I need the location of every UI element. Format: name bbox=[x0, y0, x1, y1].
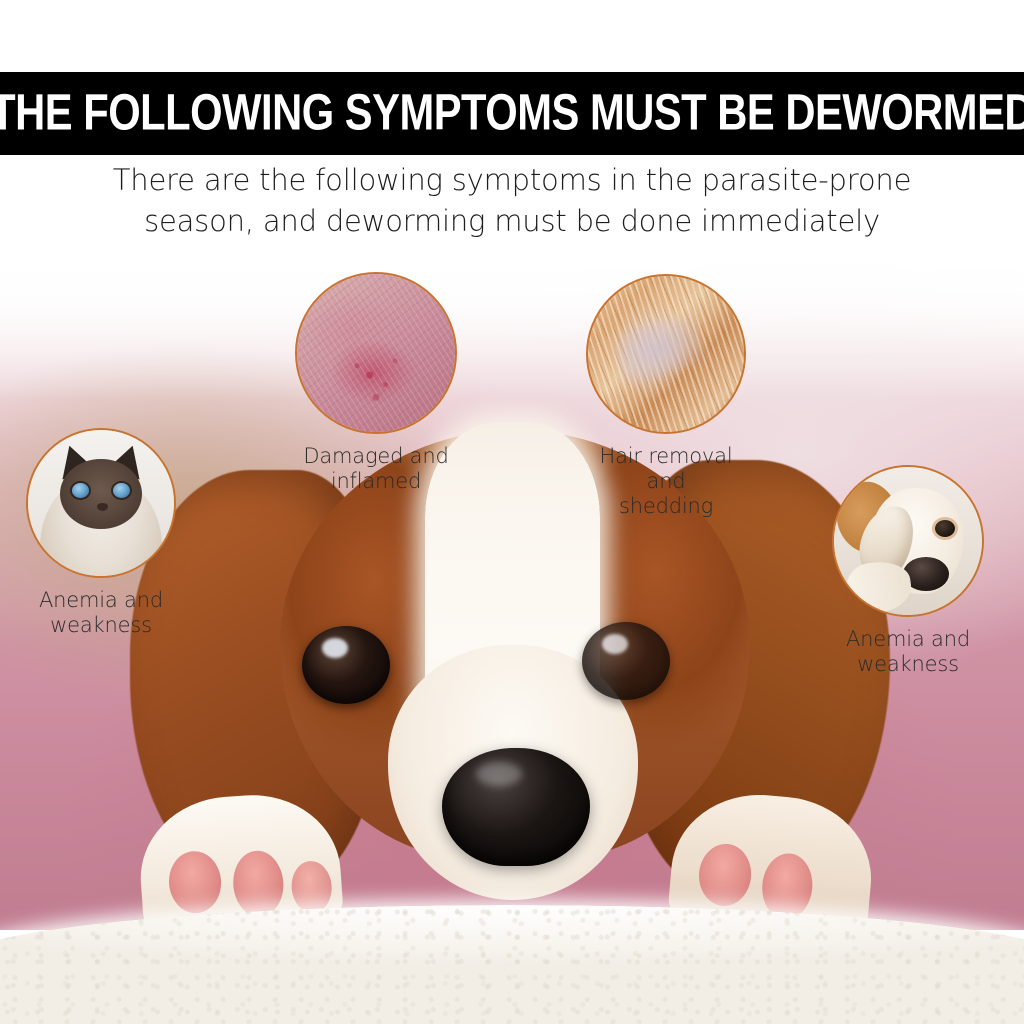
callout-label-line-2: inflamed bbox=[290, 469, 462, 494]
cat-photo bbox=[28, 430, 174, 576]
headline-banner: THE FOLLOWING SYMPTOMS MUST BE DEWORMED bbox=[0, 72, 1024, 155]
callout-image-beagle bbox=[832, 465, 984, 617]
callout-damaged-skin[interactable]: Damaged and inflamed bbox=[290, 272, 462, 494]
callout-label-line-1: Damaged and bbox=[290, 444, 462, 469]
paw-pad bbox=[231, 849, 285, 918]
callout-image-cat bbox=[26, 428, 176, 578]
paw-pad bbox=[167, 849, 223, 914]
fleece-blanket bbox=[0, 905, 1024, 1024]
callout-image-skin bbox=[295, 272, 457, 434]
subtitle-line-2: season, and deworming must be done immed… bbox=[0, 201, 1024, 242]
subtitle-line-1: There are the following symptoms in the … bbox=[0, 160, 1024, 201]
infographic-poster: THE FOLLOWING SYMPTOMS MUST BE DEWORMED … bbox=[0, 0, 1024, 1024]
paw-pad bbox=[290, 860, 334, 915]
headline-title: THE FOLLOWING SYMPTOMS MUST BE DEWORMED bbox=[0, 88, 1024, 139]
cat-right-eye bbox=[113, 483, 130, 498]
beagle-photo bbox=[834, 467, 982, 615]
callout-image-fur bbox=[586, 274, 746, 434]
top-white-strip bbox=[0, 0, 1024, 72]
puppy-nose bbox=[442, 748, 590, 866]
puppy-right-eye bbox=[582, 622, 670, 700]
cat-nose bbox=[97, 503, 108, 511]
puppy-left-eye bbox=[302, 626, 390, 704]
callout-label-anemia-cat: Anemia and weakness bbox=[18, 588, 184, 638]
blanket-texture bbox=[0, 905, 1024, 1024]
skin-lesion-spots bbox=[297, 274, 455, 432]
puppy-illustration bbox=[130, 430, 890, 930]
subtitle-block: There are the following symptoms in the … bbox=[0, 160, 1024, 242]
paw-pad bbox=[696, 842, 753, 908]
callout-label-hair-loss: Hair removal and shedding bbox=[578, 444, 754, 520]
callout-label-line-2: shedding bbox=[578, 494, 754, 519]
callout-label-line-1: Hair removal and bbox=[578, 444, 754, 494]
callout-label-damaged-skin: Damaged and inflamed bbox=[290, 444, 462, 494]
callout-anemia-dog[interactable]: Anemia and weakness bbox=[820, 465, 996, 677]
photo-top-fade bbox=[0, 250, 1024, 400]
callout-hair-loss[interactable]: Hair removal and shedding bbox=[578, 274, 754, 520]
callout-label-line-2: weakness bbox=[820, 652, 996, 677]
callout-label-anemia-dog: Anemia and weakness bbox=[820, 627, 996, 677]
callout-label-line-1: Anemia and bbox=[18, 588, 184, 613]
callout-label-line-2: weakness bbox=[18, 613, 184, 638]
cat-left-eye bbox=[72, 483, 89, 498]
callout-anemia-cat[interactable]: Anemia and weakness bbox=[18, 428, 184, 638]
callout-label-line-1: Anemia and bbox=[820, 627, 996, 652]
